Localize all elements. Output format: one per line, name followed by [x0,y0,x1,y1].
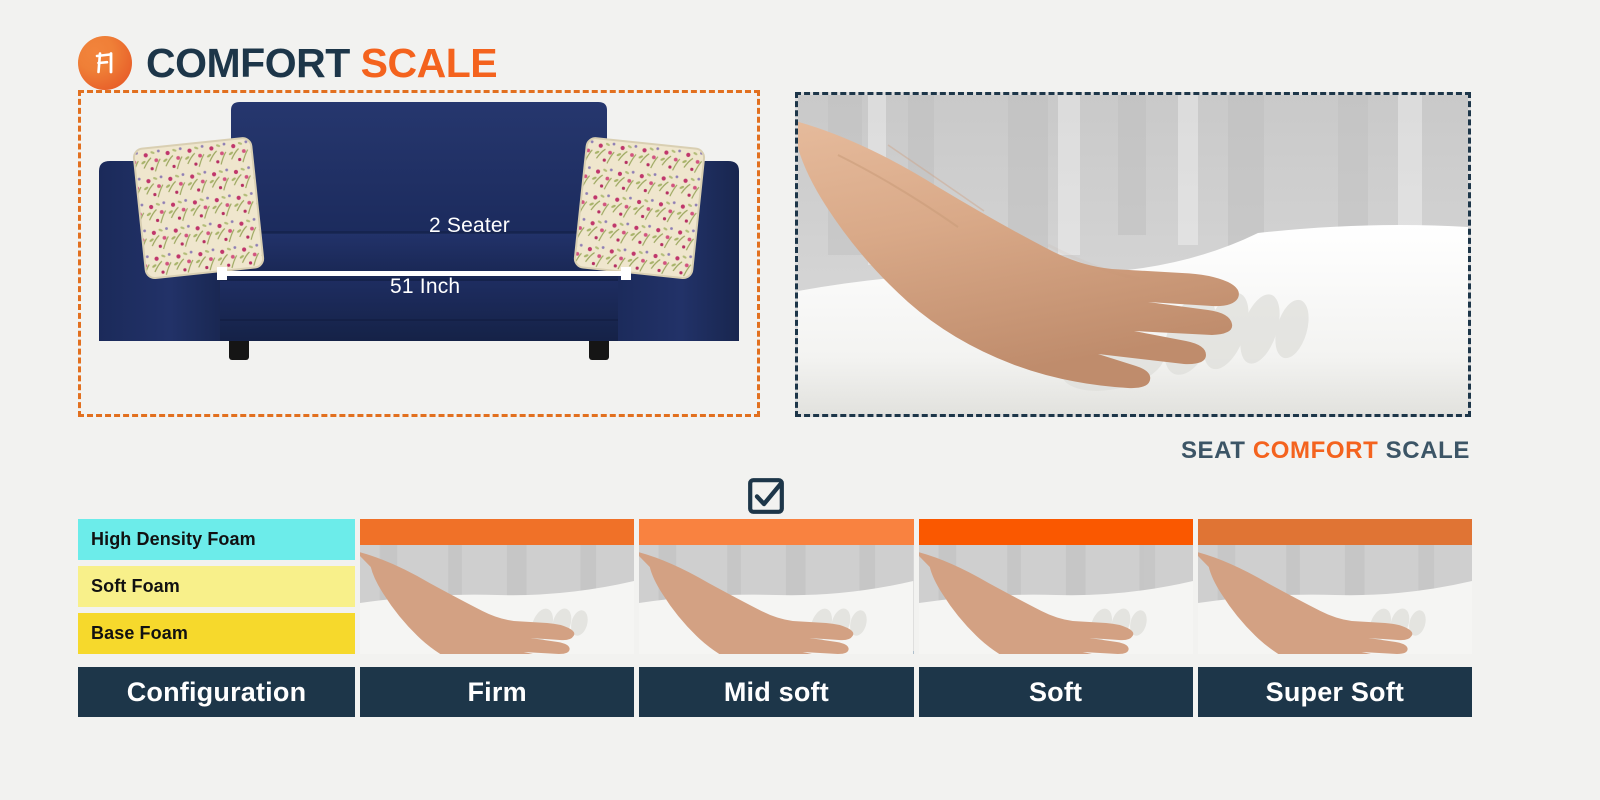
hand-on-foam-thumbnail [360,545,634,654]
page-header: COMFORT SCALE [78,36,497,90]
caption-part-comfort: COMFORT [1253,437,1379,464]
hand-on-foam-thumbnail [1198,545,1472,654]
caption-part-scale: SCALE [1386,437,1470,464]
firmness-bar [919,519,1193,545]
comfort-scale-table: High Density Foam Soft Foam Base Foam [78,519,1472,654]
legend-item-base-foam: Base Foam [78,613,355,654]
hand-on-foam-photo [798,95,1468,414]
column-label-super-soft[interactable]: Super Soft [1198,667,1472,717]
comfort-cell-soft[interactable] [919,519,1193,654]
firmness-bar [360,519,634,545]
comfort-option-cells [360,519,1472,654]
sofa-illustration [81,93,757,414]
legend-label: Base Foam [91,623,188,644]
column-label: Firm [467,677,526,708]
page-title: COMFORT SCALE [146,43,497,84]
width-label: 51 Inch [390,275,460,299]
comfort-cell-firm[interactable] [360,519,634,654]
comfort-cell-mid-soft[interactable] [639,519,913,654]
caption-part-seat: SEAT [1181,437,1246,464]
row-header-label: Configuration [127,677,307,708]
furniture-chair-logo-icon [78,36,132,90]
legend-item-soft-foam: Soft Foam [78,566,355,607]
hand-on-foam-thumbnail [639,545,913,654]
page-title-primary: COMFORT [146,40,350,86]
legend-label: High Density Foam [91,529,256,550]
legend-label: Soft Foam [91,576,180,597]
firmness-bar [639,519,913,545]
foam-legend-column: High Density Foam Soft Foam Base Foam [78,519,355,654]
seat-comfort-scale-caption: SEAT COMFORT SCALE [1181,437,1470,465]
row-header-configuration: Configuration [78,667,355,717]
column-label-soft[interactable]: Soft [919,667,1193,717]
comfort-cell-super-soft[interactable] [1198,519,1472,654]
column-label-mid-soft[interactable]: Mid soft [639,667,913,717]
firmness-bar [1198,519,1472,545]
page-title-accent: SCALE [361,40,497,86]
column-label-firm[interactable]: Firm [360,667,634,717]
hand-on-foam-thumbnail [919,545,1193,654]
legend-item-high-density-foam: High Density Foam [78,519,355,560]
column-label: Soft [1029,677,1082,708]
column-label: Super Soft [1266,677,1405,708]
foam-hero-panel [795,92,1471,417]
sofa-dimension-panel: 2 Seater 51 Inch [78,90,760,417]
comfort-label-row: Configuration Firm Mid soft Soft Super S… [78,667,1472,717]
checkbox-checked-icon[interactable] [747,477,785,515]
column-label: Mid soft [724,677,829,708]
seater-label: 2 Seater [429,214,510,238]
